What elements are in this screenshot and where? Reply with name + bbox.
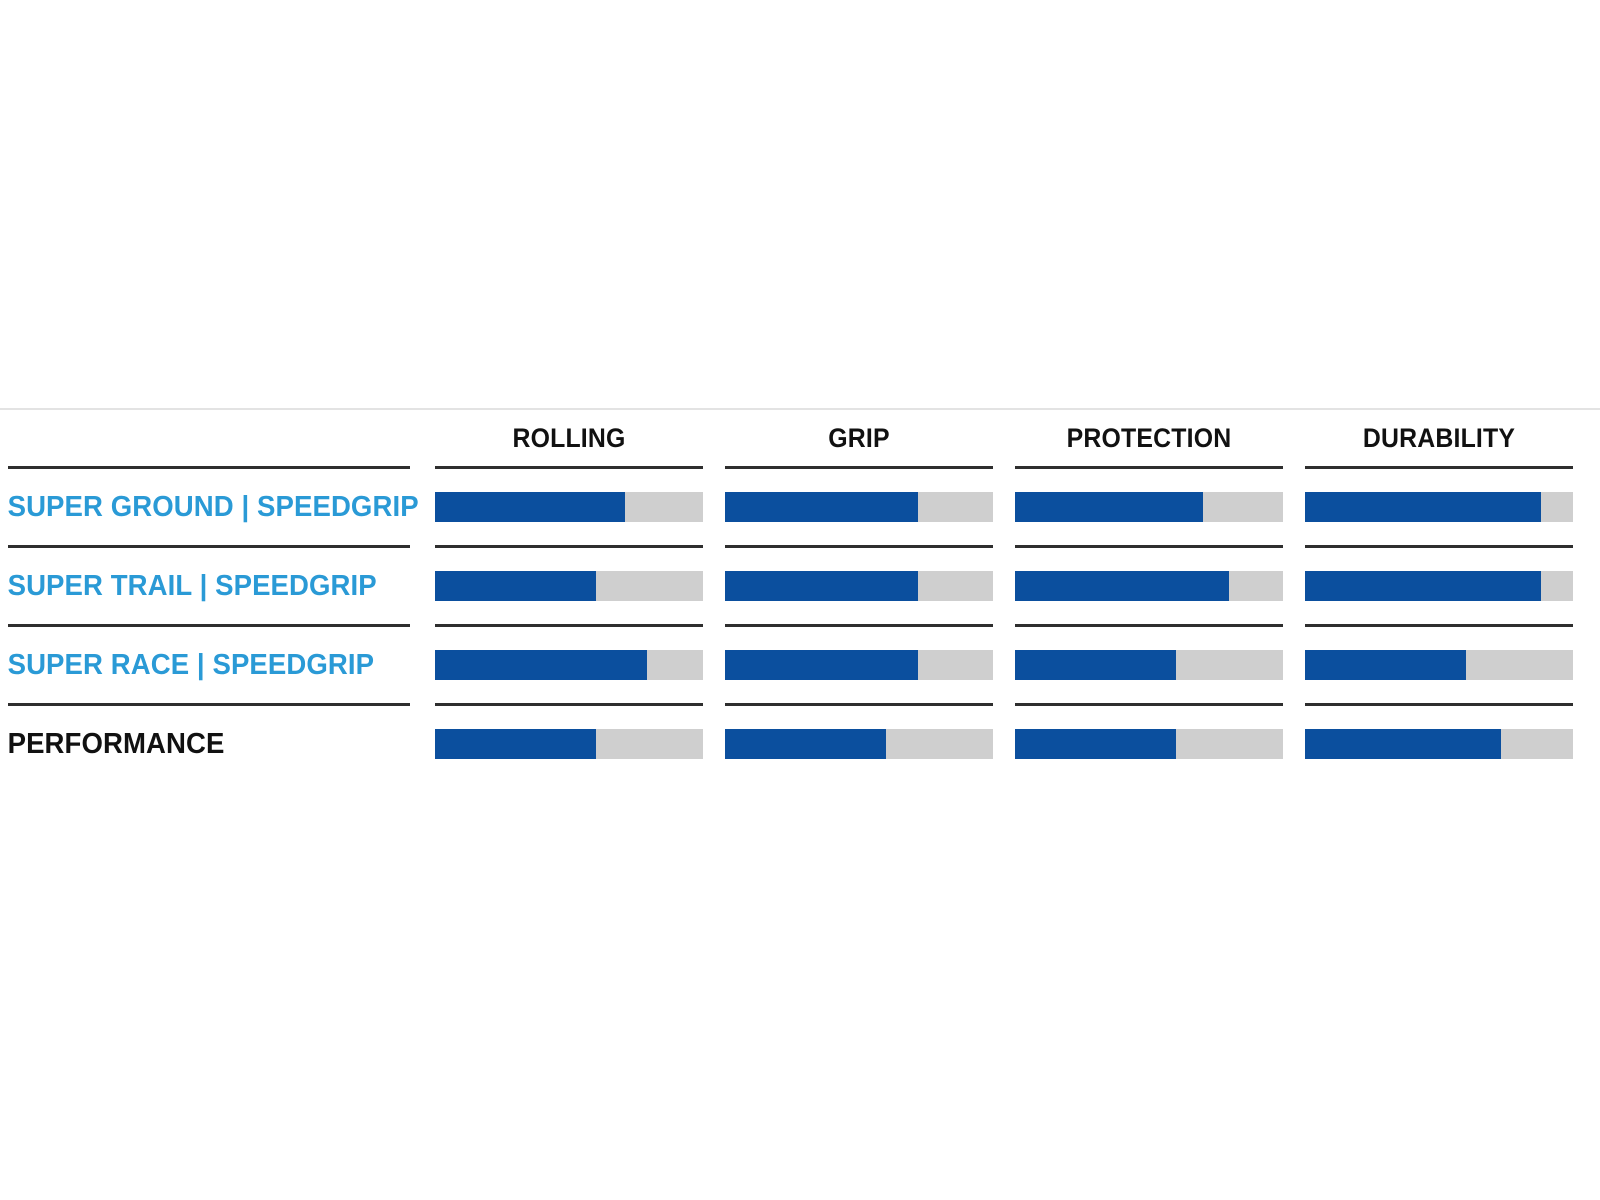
bar-cell-rolling bbox=[435, 627, 703, 703]
header-gap-3 bbox=[1283, 410, 1305, 466]
bar-fill bbox=[1305, 729, 1501, 759]
header-gap-4 bbox=[1573, 410, 1600, 466]
bar-cell-durability bbox=[1305, 469, 1573, 545]
bar-cell-durability bbox=[1305, 548, 1573, 624]
bar-cell-rolling bbox=[435, 548, 703, 624]
row-label-super-race: SUPER RACE | SPEEDGRIP bbox=[0, 627, 413, 703]
bar-fill bbox=[435, 729, 596, 759]
cell-gap bbox=[993, 469, 1015, 545]
bar-fill bbox=[435, 571, 596, 601]
bar-track bbox=[725, 729, 993, 759]
performance-comparison-table: ROLLING GRIP PROTECTION DURABILITY SUPER… bbox=[0, 408, 1600, 782]
table-row: SUPER GROUND | SPEEDGRIP bbox=[0, 469, 1600, 545]
bar-track bbox=[1015, 729, 1283, 759]
cell-gap bbox=[703, 469, 725, 545]
row-label-super-ground: SUPER GROUND | SPEEDGRIP bbox=[0, 469, 413, 545]
bar-fill bbox=[725, 729, 886, 759]
column-header-protection: PROTECTION bbox=[1026, 410, 1273, 466]
bar-cell-protection bbox=[1015, 548, 1283, 624]
bar-fill bbox=[725, 492, 918, 522]
bar-cell-durability bbox=[1305, 627, 1573, 703]
bar-track bbox=[1305, 571, 1573, 601]
bar-cell-protection bbox=[1015, 627, 1283, 703]
bar-track bbox=[725, 492, 993, 522]
cell-gap bbox=[1573, 548, 1600, 624]
bar-track bbox=[1015, 650, 1283, 680]
bar-fill bbox=[1305, 571, 1541, 601]
bar-cell-protection bbox=[1015, 469, 1283, 545]
bar-track bbox=[435, 650, 703, 680]
table-header-row: ROLLING GRIP PROTECTION DURABILITY bbox=[0, 410, 1600, 466]
bar-fill bbox=[435, 492, 625, 522]
bar-track bbox=[1305, 492, 1573, 522]
bar-track bbox=[435, 729, 703, 759]
cell-gap bbox=[703, 548, 725, 624]
bar-cell-grip bbox=[725, 469, 993, 545]
row-label-super-trail: SUPER TRAIL | SPEEDGRIP bbox=[0, 548, 413, 624]
header-gap-2 bbox=[993, 410, 1015, 466]
bar-fill bbox=[435, 650, 647, 680]
bar-fill bbox=[725, 571, 918, 601]
column-header-grip: GRIP bbox=[736, 410, 983, 466]
bar-fill bbox=[1305, 650, 1466, 680]
bar-cell-rolling bbox=[435, 706, 703, 782]
bar-cell-grip bbox=[725, 548, 993, 624]
bar-cell-protection bbox=[1015, 706, 1283, 782]
cell-gap bbox=[703, 706, 725, 782]
header-label-spacer bbox=[0, 410, 435, 466]
bar-track bbox=[1015, 492, 1283, 522]
cell-gap bbox=[993, 548, 1015, 624]
cell-gap bbox=[1283, 706, 1305, 782]
bar-cell-grip bbox=[725, 627, 993, 703]
cell-gap bbox=[1573, 469, 1600, 545]
table-row: SUPER RACE | SPEEDGRIP bbox=[0, 627, 1600, 703]
bar-fill bbox=[1305, 492, 1541, 522]
bar-track bbox=[1305, 650, 1573, 680]
cell-gap bbox=[1283, 548, 1305, 624]
bar-fill bbox=[1015, 492, 1203, 522]
bar-track bbox=[725, 571, 993, 601]
cell-gap bbox=[993, 627, 1015, 703]
bar-cell-durability bbox=[1305, 706, 1573, 782]
bar-track bbox=[1305, 729, 1573, 759]
row-label-performance: PERFORMANCE bbox=[0, 706, 413, 782]
bar-track bbox=[725, 650, 993, 680]
table-row: SUPER TRAIL | SPEEDGRIP bbox=[0, 548, 1600, 624]
table-row: PERFORMANCE bbox=[0, 706, 1600, 782]
cell-gap bbox=[993, 706, 1015, 782]
column-header-rolling: ROLLING bbox=[446, 410, 693, 466]
bar-fill bbox=[1015, 729, 1176, 759]
bar-fill bbox=[725, 650, 918, 680]
bar-track bbox=[435, 492, 703, 522]
bar-fill bbox=[1015, 650, 1176, 680]
bar-cell-grip bbox=[725, 706, 993, 782]
cell-gap bbox=[1283, 627, 1305, 703]
column-header-durability: DURABILITY bbox=[1316, 410, 1563, 466]
cell-gap bbox=[1573, 627, 1600, 703]
cell-gap bbox=[703, 627, 725, 703]
bar-track bbox=[435, 571, 703, 601]
cell-gap bbox=[1573, 706, 1600, 782]
cell-gap bbox=[1283, 469, 1305, 545]
bar-cell-rolling bbox=[435, 469, 703, 545]
bar-fill bbox=[1015, 571, 1229, 601]
bar-track bbox=[1015, 571, 1283, 601]
header-gap-1 bbox=[703, 410, 725, 466]
